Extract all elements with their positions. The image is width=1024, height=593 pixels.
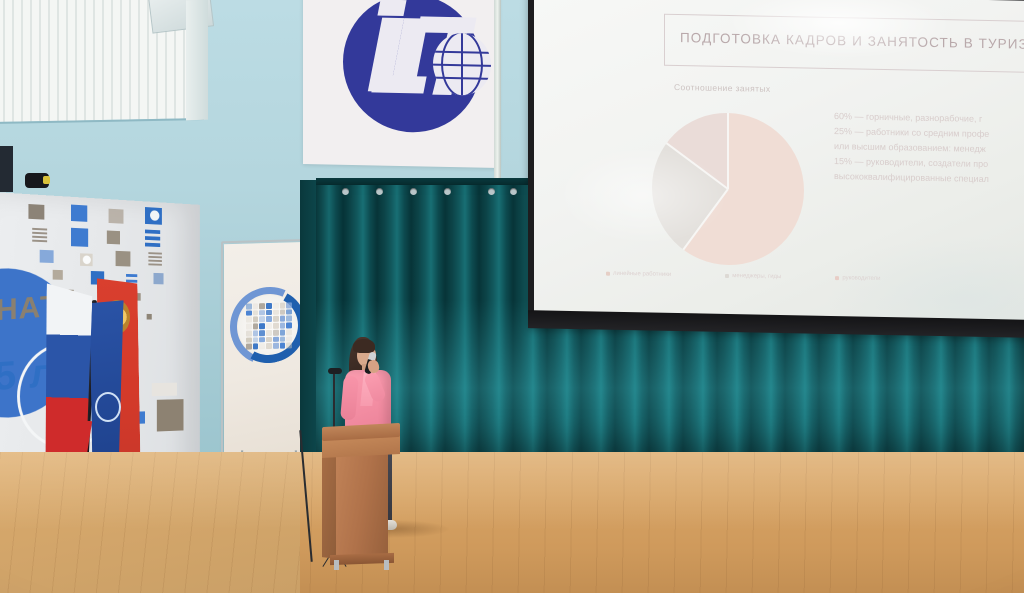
- speaker-hair-fringe: [353, 339, 375, 353]
- podium-foot: [334, 560, 339, 570]
- flag-blue-emblem-icon: [95, 392, 121, 422]
- legend-item: линейные работники: [606, 271, 671, 278]
- podium-front: [336, 452, 388, 560]
- slide-subtitle: Соотношение занятых: [674, 82, 771, 94]
- pie-chart-legend: линейные работникименеджеры, гидыруковод…: [606, 271, 1006, 285]
- ito-logo-panel: [303, 0, 499, 168]
- globe-icon: [433, 33, 491, 96]
- legend-swatch: [835, 276, 839, 280]
- legend-label: линейные работники: [613, 271, 671, 278]
- legend-label: менеджеры, гиды: [732, 273, 781, 280]
- pie-chart: [652, 112, 808, 271]
- pie-slice-separator: [666, 142, 729, 189]
- legend-item: руководители: [835, 275, 880, 282]
- curtain-grommet: [444, 188, 451, 195]
- projection-screen-frame: ПОДГОТОВКА КАДРОВ И ЗАНЯТОСТЬ В ТУРИЗ Со…: [528, 0, 1024, 337]
- curtain-grommet: [376, 188, 383, 195]
- legend-swatch: [606, 272, 610, 276]
- pie-slice-separator: [683, 188, 729, 250]
- projection-screen: ПОДГОТОВКА КАДРОВ И ЗАНЯТОСТЬ В ТУРИЗ Со…: [534, 0, 1024, 327]
- legend-label: руководители: [842, 275, 880, 282]
- stage-floor-left: [0, 452, 300, 593]
- legend-item: менеджеры, гиды: [725, 273, 781, 280]
- podium-foot: [384, 560, 389, 570]
- legend-swatch: [725, 274, 729, 278]
- slide-body-text: 60% — горничные, разнорабочие, г25% — ра…: [834, 109, 1024, 188]
- curtain-grommet: [510, 188, 517, 195]
- window-blinds-edge: [186, 0, 208, 120]
- conference-hall-photo: НАТ 5 ле ПОДГОТОВКА КАДРОВ И ЗАНЯТОСТЬ В…: [0, 0, 1024, 593]
- mic-stand-head: [328, 368, 342, 374]
- wall-pipe: [494, 0, 501, 196]
- ito-logo-icon: [343, 0, 481, 134]
- spotlight-icon: [25, 173, 49, 188]
- slide-body-line: высококвалифицированные специал: [834, 169, 1024, 188]
- curtain-grommet: [488, 188, 495, 195]
- curtain-grommet: [410, 188, 417, 195]
- pie-slice-separator: [727, 113, 729, 189]
- curtain-grommet: [342, 188, 349, 195]
- equipment-stand: [0, 146, 13, 192]
- pie-chart-slices: [652, 112, 804, 267]
